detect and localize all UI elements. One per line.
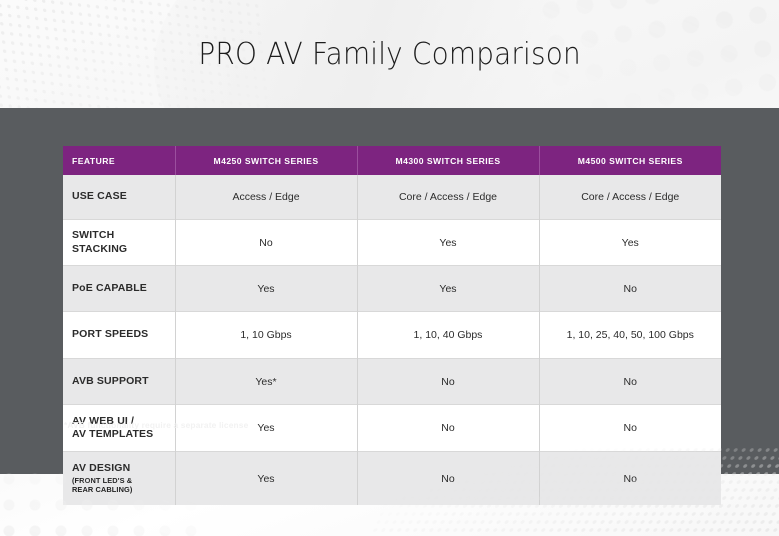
- cell-av-design-m4250: Yes: [175, 452, 357, 506]
- title-area: PRO AV Family Comparison: [0, 0, 779, 108]
- table-row: AV DESIGN (FRONT LED'S &REAR CABLING) Ye…: [63, 452, 721, 506]
- cell-avb-support-m4250: Yes*: [175, 359, 357, 405]
- row-label-poe-capable: PoE CAPABLE: [63, 266, 175, 312]
- cell-use-case-m4300: Core / Access / Edge: [357, 175, 539, 220]
- cell-use-case-m4250: Access / Edge: [175, 175, 357, 220]
- cell-poe-capable-m4500: No: [539, 266, 721, 312]
- column-header-m4300: M4300 SWITCH SERIES: [357, 146, 539, 175]
- row-label-use-case: USE CASE: [63, 175, 175, 220]
- row-label-av-design-sub: (FRONT LED'S &REAR CABLING): [72, 476, 169, 495]
- table-row: AVB SUPPORT Yes* No No: [63, 359, 721, 405]
- feature-comparison-table: FEATURE M4250 SWITCH SERIES M4300 SWITCH…: [63, 146, 721, 505]
- table-footnote: *AVB functionality require a separate li…: [64, 420, 248, 430]
- cell-switch-stacking-m4250: No: [175, 220, 357, 266]
- cell-port-speeds-m4300: 1, 10, 40 Gbps: [357, 312, 539, 359]
- cell-use-case-m4500: Core / Access / Edge: [539, 175, 721, 220]
- cell-av-design-m4300: No: [357, 452, 539, 506]
- cell-avb-support-m4300: No: [357, 359, 539, 405]
- row-label-av-design-main: AV DESIGN: [72, 462, 130, 474]
- cell-port-speeds-m4250: 1, 10 Gbps: [175, 312, 357, 359]
- row-label-avb-support: AVB SUPPORT: [63, 359, 175, 405]
- cell-av-design-m4500: No: [539, 452, 721, 506]
- cell-av-web-ui-m4500: No: [539, 405, 721, 452]
- row-label-av-design: AV DESIGN (FRONT LED'S &REAR CABLING): [63, 452, 175, 506]
- cell-port-speeds-m4500: 1, 10, 25, 40, 50, 100 Gbps: [539, 312, 721, 359]
- cell-poe-capable-m4250: Yes: [175, 266, 357, 312]
- cell-avb-support-m4500: No: [539, 359, 721, 405]
- table-row: PORT SPEEDS 1, 10 Gbps 1, 10, 40 Gbps 1,…: [63, 312, 721, 359]
- slide-canvas: PRO AV Family Comparison FEATURE M4250 S…: [0, 0, 779, 536]
- cell-poe-capable-m4300: Yes: [357, 266, 539, 312]
- page-title: PRO AV Family Comparison: [198, 37, 580, 72]
- column-header-m4500: M4500 SWITCH SERIES: [539, 146, 721, 175]
- cell-switch-stacking-m4500: Yes: [539, 220, 721, 266]
- cell-av-web-ui-m4300: No: [357, 405, 539, 452]
- cell-switch-stacking-m4300: Yes: [357, 220, 539, 266]
- column-header-m4250: M4250 SWITCH SERIES: [175, 146, 357, 175]
- table-header-row: FEATURE M4250 SWITCH SERIES M4300 SWITCH…: [63, 146, 721, 175]
- table-row: SWITCH STACKING No Yes Yes: [63, 220, 721, 266]
- table-row: PoE CAPABLE Yes Yes No: [63, 266, 721, 312]
- column-header-feature: FEATURE: [63, 146, 175, 175]
- row-label-switch-stacking: SWITCH STACKING: [63, 220, 175, 266]
- table-row: USE CASE Access / Edge Core / Access / E…: [63, 175, 721, 220]
- row-label-port-speeds: PORT SPEEDS: [63, 312, 175, 359]
